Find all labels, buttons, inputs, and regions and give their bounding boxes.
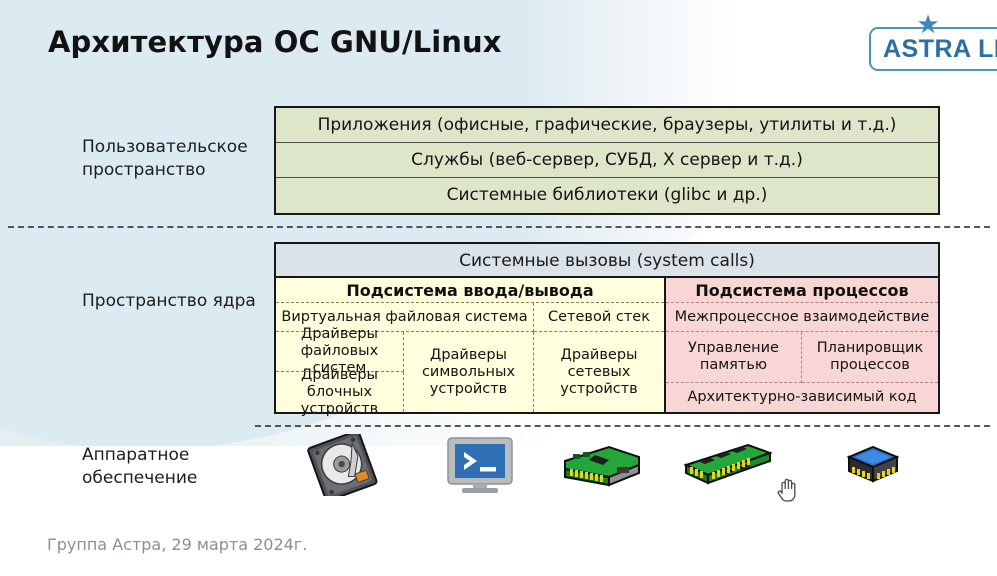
cpu-chip-icon <box>843 443 903 495</box>
cell-interprocess-communication: Межпроцессное взаимодействие <box>666 303 938 332</box>
cell-architecture-dependent-code: Архитектурно-зависимый код <box>666 383 938 412</box>
divider-kernel-hardware <box>255 425 990 427</box>
cell-process-scheduler: Планировщик процессов <box>802 332 938 383</box>
cell-network-stack: Сетевой стек <box>534 303 664 332</box>
user-space-row-applications: Приложения (офисные, графические, браузе… <box>276 108 938 143</box>
system-calls-bar: Системные вызовы (system calls) <box>276 244 938 278</box>
zone-label-kernel-space: Пространство ядра <box>82 290 272 313</box>
process-middle-group: Управление памятью Планировщик процессов <box>666 332 938 383</box>
io-subsystem-heading: Подсистема ввода/вывода <box>276 278 664 303</box>
monitor-terminal-icon <box>444 436 516 498</box>
kernel-space-block: Системные вызовы (system calls) Подсисте… <box>274 242 940 414</box>
user-space-row-libraries: Системные библиотеки (glibc и др.) <box>276 178 938 213</box>
io-lower-group: Драйверы файловых систем Драйверы блочны… <box>276 332 534 412</box>
cell-block-device-drivers: Драйверы блочных устройств <box>276 372 404 412</box>
process-subsystem-column: Подсистема процессов Межпроцессное взаим… <box>664 278 938 412</box>
process-subsystem-heading: Подсистема процессов <box>666 278 938 303</box>
star-icon: ★ <box>915 12 941 38</box>
footer-text: Группа Астра, 29 марта 2024г. <box>47 535 307 554</box>
hard-disk-icon <box>303 434 381 500</box>
cell-character-device-drivers: Драйверы символьных устройств <box>404 332 534 412</box>
io-subsystem-column: Подсистема ввода/вывода Виртуальная файл… <box>276 278 664 412</box>
process-subsystem-grid: Межпроцессное взаимодействие Управление … <box>666 303 938 412</box>
io-left-group: Виртуальная файловая система Драйверы фа… <box>276 303 534 412</box>
zone-label-hardware: Аппаратное обеспечение <box>82 444 272 490</box>
io-subsystem-grid: Виртуальная файловая система Драйверы фа… <box>276 303 664 412</box>
user-space-block: Приложения (офисные, графические, браузе… <box>274 106 940 215</box>
hand-cursor <box>776 477 798 503</box>
divider-user-kernel <box>8 226 990 228</box>
logo-text: ASTRA LIN <box>883 35 997 64</box>
cell-network-device-drivers: Драйверы сетевых устройств <box>534 332 664 412</box>
kernel-columns: Подсистема ввода/вывода Виртуальная файл… <box>276 278 938 412</box>
zone-label-user-space: Пользовательское пространство <box>82 136 272 182</box>
network-card-icon <box>557 443 643 495</box>
page-title: Архитектура ОС GNU/Linux <box>48 25 502 59</box>
cell-memory-management: Управление памятью <box>666 332 802 383</box>
io-right-group: Сетевой стек Драйверы сетевых устройств <box>534 303 664 412</box>
io-fs-driver-group: Драйверы файловых систем Драйверы блочны… <box>276 332 404 412</box>
user-space-row-services: Службы (веб-сервер, СУБД, X сервер и т.д… <box>276 143 938 178</box>
memory-module-icon <box>682 443 774 495</box>
